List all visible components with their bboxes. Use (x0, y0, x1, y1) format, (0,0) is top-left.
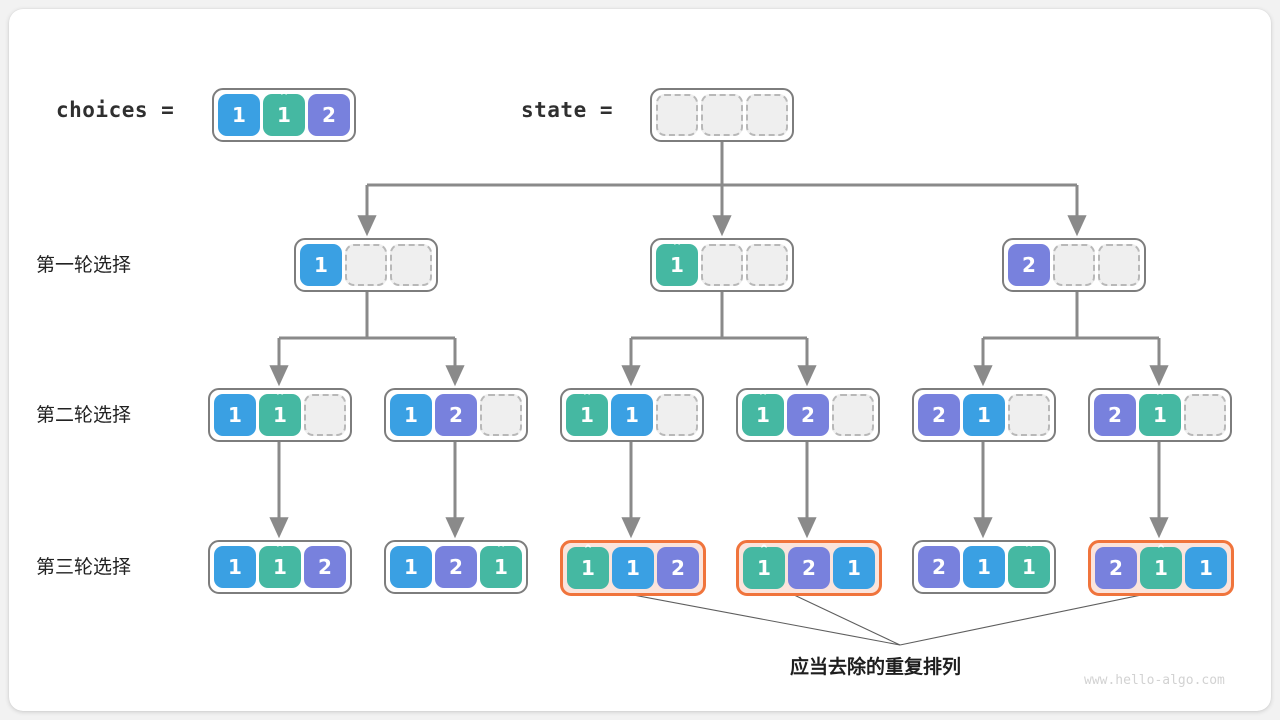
node-2: 2 (1002, 238, 1146, 292)
cell-glyph: 1ˆ (670, 255, 684, 275)
cell-glyph: 1 (404, 405, 418, 425)
cell-empty (390, 244, 432, 286)
cell-value: 2 (1095, 547, 1137, 589)
cell-value: 2 (308, 94, 350, 136)
leaf-2-1hat-1: 21ˆ1 (1088, 540, 1234, 596)
circumflex-icon: ˆ (1157, 545, 1166, 562)
leaf-1hat-2-1: 1ˆ21 (736, 540, 882, 596)
cell-value: 1ˆ (1139, 394, 1181, 436)
cell-glyph: 1 (404, 557, 418, 577)
cell-empty (1184, 394, 1226, 436)
cell-glyph: 2 (801, 405, 815, 425)
cell-glyph: 1ˆ (273, 405, 287, 425)
cell-empty (701, 94, 743, 136)
circumflex-icon: ˆ (276, 392, 285, 409)
cell-empty (656, 94, 698, 136)
cell-value: 1ˆ (742, 394, 784, 436)
choices-label: choices = (56, 98, 174, 122)
cell-value: 1ˆ (1140, 547, 1182, 589)
cell-glyph: 2 (932, 405, 946, 425)
cell-glyph: 1 (626, 558, 640, 578)
cell-value: 2 (1094, 394, 1136, 436)
cell-glyph: 1ˆ (1153, 405, 1167, 425)
cell-glyph: 2 (322, 105, 336, 125)
cell-value: 1ˆ (743, 547, 785, 589)
leaf-2-1-1hat: 211ˆ (912, 540, 1056, 594)
cell-glyph: 1ˆ (494, 557, 508, 577)
cell-value: 1 (390, 546, 432, 588)
cell-value: 1 (214, 546, 256, 588)
leaf-1hat-1-2: 1ˆ12 (560, 540, 706, 596)
circumflex-icon: ˆ (497, 544, 506, 561)
row-label-round-3: 第三轮选择 (36, 552, 131, 579)
cell-glyph: 2 (1022, 255, 1036, 275)
node-1hat: 1ˆ (650, 238, 794, 292)
diagram-canvas: choices = 11ˆ2 state = 第一轮选择 第二轮选择 第三轮选择… (0, 0, 1280, 720)
node-1hat-2: 1ˆ2 (736, 388, 880, 442)
circumflex-icon: ˆ (760, 545, 769, 562)
cell-glyph: 1 (228, 405, 242, 425)
cell-glyph: 2 (932, 557, 946, 577)
cell-glyph: 1 (232, 105, 246, 125)
circumflex-icon: ˆ (759, 392, 768, 409)
cell-glyph: 2 (671, 558, 685, 578)
cell-glyph: 1ˆ (277, 105, 291, 125)
cell-empty (345, 244, 387, 286)
cell-empty (832, 394, 874, 436)
cell-value: 2 (918, 394, 960, 436)
cell-empty (701, 244, 743, 286)
cell-value: 2 (788, 547, 830, 589)
circumflex-icon: ˆ (1025, 544, 1034, 561)
cell-empty (746, 94, 788, 136)
node-1hat-1: 1ˆ1 (560, 388, 704, 442)
cell-empty (1098, 244, 1140, 286)
cell-value: 1ˆ (567, 547, 609, 589)
cell-glyph: 1 (625, 405, 639, 425)
cell-value: 1 (833, 547, 875, 589)
cell-glyph: 1 (977, 557, 991, 577)
cell-glyph: 1ˆ (757, 558, 771, 578)
row-label-round-2: 第二轮选择 (36, 400, 131, 427)
state-array (650, 88, 794, 142)
cell-glyph: 2 (1108, 405, 1122, 425)
cell-value: 1 (1185, 547, 1227, 589)
cell-value: 2 (304, 546, 346, 588)
diagram-card (9, 9, 1271, 711)
cell-glyph: 1 (847, 558, 861, 578)
cell-glyph: 1 (1199, 558, 1213, 578)
cell-glyph: 1ˆ (1154, 558, 1168, 578)
cell-glyph: 1 (228, 557, 242, 577)
circumflex-icon: ˆ (1156, 392, 1165, 409)
cell-empty (1008, 394, 1050, 436)
cell-glyph: 1ˆ (581, 558, 595, 578)
cell-value: 2 (787, 394, 829, 436)
cell-glyph: 1 (314, 255, 328, 275)
cell-glyph: 2 (449, 405, 463, 425)
node-1-1hat: 11ˆ (208, 388, 352, 442)
duplicate-caption: 应当去除的重复排列 (790, 652, 961, 679)
cell-value: 1ˆ (480, 546, 522, 588)
circumflex-icon: ˆ (276, 544, 285, 561)
cell-glyph: 1ˆ (580, 405, 594, 425)
choices-array: 11ˆ2 (212, 88, 356, 142)
cell-value: 1ˆ (1008, 546, 1050, 588)
cell-value: 1 (963, 546, 1005, 588)
circumflex-icon: ˆ (280, 92, 289, 109)
cell-value: 1 (963, 394, 1005, 436)
cell-value: 1 (390, 394, 432, 436)
cell-glyph: 1ˆ (756, 405, 770, 425)
node-1-2: 12 (384, 388, 528, 442)
leaf-1-1hat-2: 11ˆ2 (208, 540, 352, 594)
cell-value: 2 (435, 546, 477, 588)
cell-empty (480, 394, 522, 436)
cell-glyph: 1 (977, 405, 991, 425)
cell-glyph: 2 (1109, 558, 1123, 578)
cell-glyph: 2 (318, 557, 332, 577)
cell-value: 1 (218, 94, 260, 136)
cell-value: 2 (435, 394, 477, 436)
cell-value: 1ˆ (263, 94, 305, 136)
cell-value: 1 (300, 244, 342, 286)
cell-empty (1053, 244, 1095, 286)
leaf-1-2-1hat: 121ˆ (384, 540, 528, 594)
cell-value: 2 (918, 546, 960, 588)
node-1: 1 (294, 238, 438, 292)
cell-value: 1 (611, 394, 653, 436)
cell-empty (746, 244, 788, 286)
circumflex-icon: ˆ (673, 242, 682, 259)
cell-value: 2 (657, 547, 699, 589)
cell-value: 1 (612, 547, 654, 589)
cell-value: 2 (1008, 244, 1050, 286)
cell-value: 1ˆ (656, 244, 698, 286)
cell-glyph: 1ˆ (1022, 557, 1036, 577)
cell-glyph: 2 (802, 558, 816, 578)
node-2-1hat: 21ˆ (1088, 388, 1232, 442)
node-2-1: 21 (912, 388, 1056, 442)
circumflex-icon: ˆ (583, 392, 592, 409)
watermark: www.hello-algo.com (1084, 673, 1225, 688)
cell-value: 1ˆ (259, 546, 301, 588)
cell-value: 1ˆ (259, 394, 301, 436)
circumflex-icon: ˆ (584, 545, 593, 562)
cell-value: 1ˆ (566, 394, 608, 436)
cell-value: 1 (214, 394, 256, 436)
cell-glyph: 2 (449, 557, 463, 577)
cell-empty (304, 394, 346, 436)
cell-empty (656, 394, 698, 436)
row-label-round-1: 第一轮选择 (36, 250, 131, 277)
cell-glyph: 1ˆ (273, 557, 287, 577)
state-label: state = (521, 98, 613, 122)
